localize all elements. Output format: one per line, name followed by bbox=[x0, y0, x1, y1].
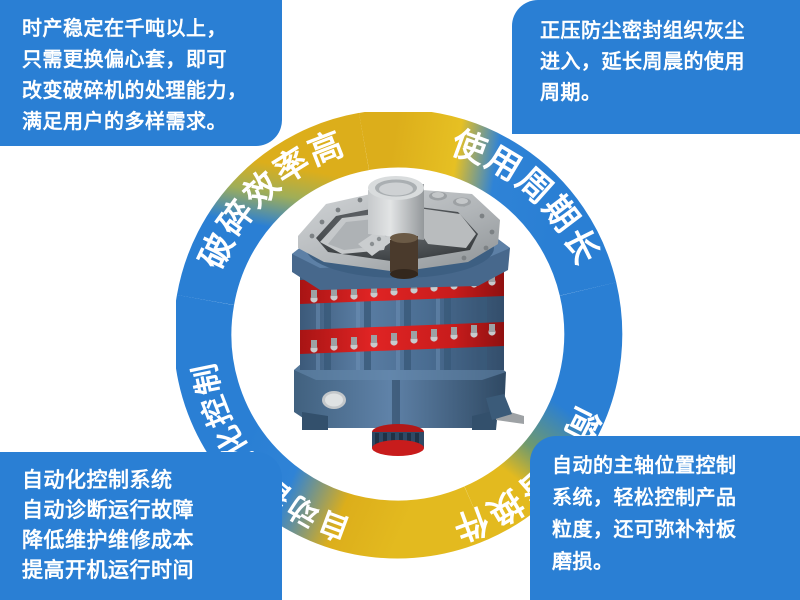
panel-line: 磨损。 bbox=[552, 546, 800, 578]
poster-canvas: 破碎效率高 使用周期长 简单替换件 自动智能化控制 bbox=[0, 0, 800, 600]
panel-line: 正压防尘密封组织灰尘 bbox=[540, 16, 800, 47]
gyratory-crusher-image bbox=[272, 158, 528, 458]
feature-panel-top-right: 正压防尘密封组织灰尘 进入，延长周晨的使用 周期。 bbox=[512, 0, 800, 134]
panel-line: 自动的主轴位置控制 bbox=[552, 450, 800, 482]
panel-line: 自动诊断运行故障 bbox=[22, 496, 282, 526]
panel-line: 粒度，还可弥补衬板 bbox=[552, 514, 800, 546]
panel-line: 时产稳定在千吨以上， bbox=[22, 14, 282, 45]
panel-line: 系统，轻松控制产品 bbox=[552, 482, 800, 514]
panel-line: 提高开机运行时间 bbox=[22, 556, 282, 586]
feature-panel-bottom-left: 自动化控制系统 自动诊断运行故障 降低维护维修成本 提高开机运行时间 bbox=[0, 452, 282, 600]
panel-line: 改变破碎机的处理能力， bbox=[22, 76, 282, 107]
panel-line: 只需更换偏心套，即可 bbox=[22, 45, 282, 76]
panel-line: 进入，延长周晨的使用 bbox=[540, 47, 800, 78]
crusher-bottom-collar bbox=[372, 424, 424, 456]
feature-panel-top-left: 时产稳定在千吨以上， 只需更换偏心套，即可 改变破碎机的处理能力， 满足用户的多… bbox=[0, 0, 282, 146]
crusher-main-shaft bbox=[390, 233, 418, 279]
panel-line: 自动化控制系统 bbox=[22, 466, 282, 496]
panel-line: 降低维护维修成本 bbox=[22, 526, 282, 556]
panel-line: 满足用户的多样需求。 bbox=[22, 107, 282, 138]
feature-panel-bottom-right: 自动的主轴位置控制 系统，轻松控制产品 粒度，还可弥补衬板 磨损。 bbox=[530, 436, 800, 600]
panel-line: 周期。 bbox=[540, 78, 800, 109]
